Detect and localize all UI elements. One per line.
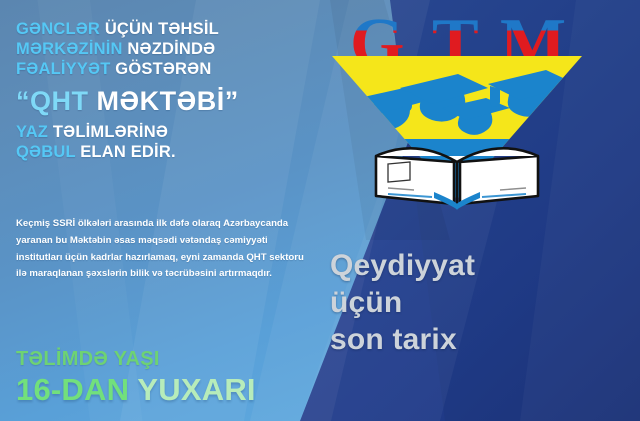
headline-feature-line: “QHT MƏKTƏBİ” xyxy=(16,85,316,117)
deadline-line-3: son tarix xyxy=(330,322,610,359)
headline-line-2: MƏRKƏZİNİN NƏZDİNDƏ xyxy=(16,40,316,60)
headline-line-4-accent: YAZ xyxy=(16,123,48,141)
left-content-column: GƏNCLƏR ÜÇÜN TƏHSİL MƏRKƏZİNİN NƏZDİNDƏ … xyxy=(0,0,330,421)
open-book xyxy=(376,148,538,210)
body-paragraph: Keçmiş SSRİ ölkələri arasında ilk dəfə o… xyxy=(16,216,306,283)
headline-line-2-accent: MƏRKƏZİNİN xyxy=(16,40,123,58)
headline-feature-accent: “QHT xyxy=(16,86,89,116)
headline-feature-rest: MƏKTƏBİ” xyxy=(89,86,239,116)
headline-line-3-rest: GÖSTƏRƏN xyxy=(111,60,212,78)
headline-line-5-rest: ELAN EDİR. xyxy=(75,143,175,161)
age-label: TƏLİMDƏ YAŞI xyxy=(16,348,326,371)
poster-root: GƏNCLƏR ÜÇÜN TƏHSİL MƏRKƏZİNİN NƏZDİNDƏ … xyxy=(0,0,640,421)
headline-line-4: YAZ TƏLİMLƏRİNƏ xyxy=(16,123,316,143)
deadline-block: Qeydiyyat üçün son tarix xyxy=(330,248,610,359)
age-value-word: YUXARI xyxy=(137,372,255,407)
headline-line-1: GƏNCLƏR ÜÇÜN TƏHSİL xyxy=(16,20,316,40)
age-requirement-block: TƏLİMDƏ YAŞI 16-DAN YUXARI xyxy=(16,348,326,408)
gtm-logo: G T M xyxy=(332,4,632,219)
deadline-line-1: Qeydiyyat xyxy=(330,248,610,285)
headline-line-2-rest: NƏZDİNDƏ xyxy=(123,40,216,58)
headline-line-1-accent: GƏNCLƏR xyxy=(16,20,100,38)
headline-line-5-accent: QƏBUL xyxy=(16,143,75,161)
deadline-line-2: üçün xyxy=(330,285,610,322)
headline-line-3-accent: FƏALİYYƏT xyxy=(16,60,111,78)
headline-line-4-rest: TƏLİMLƏRİNƏ xyxy=(48,123,168,141)
age-value: 16-DAN YUXARI xyxy=(16,372,326,408)
headline-line-3: FƏALİYYƏT GÖSTƏRƏN xyxy=(16,60,316,80)
headline-line-1-rest: ÜÇÜN TƏHSİL xyxy=(100,20,219,38)
headline-block: GƏNCLƏR ÜÇÜN TƏHSİL MƏRKƏZİNİN NƏZDİNDƏ … xyxy=(16,20,316,162)
age-value-number: 16-DAN xyxy=(16,372,137,407)
headline-line-5: QƏBUL ELAN EDİR. xyxy=(16,143,316,163)
